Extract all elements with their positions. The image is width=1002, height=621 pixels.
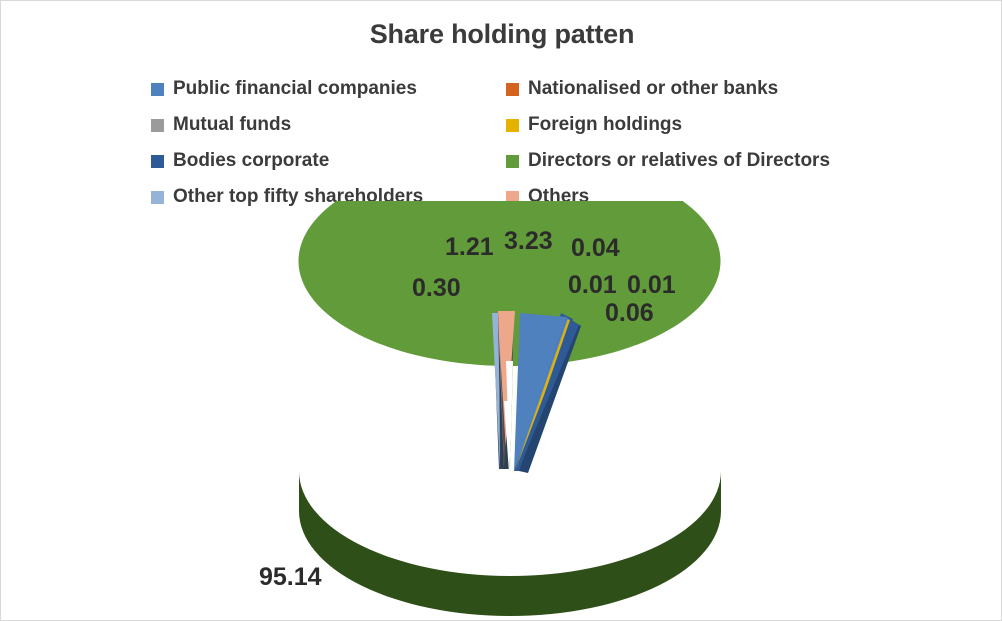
legend-item-bodies-corporate[interactable]: Bodies corporate <box>151 143 506 179</box>
pie-plot-area: 0.30 1.21 3.23 0.04 0.01 0.01 0.06 95.14 <box>1 201 1002 621</box>
legend-item-label: Bodies corporate <box>173 150 329 172</box>
data-label-others: 1.21 <box>445 233 494 262</box>
legend-swatch-icon <box>506 155 519 168</box>
data-label-public-financial-companies: 0.04 <box>571 234 620 263</box>
legend-item-label: Mutual funds <box>173 114 291 136</box>
data-label-foreign-holdings: 0.06 <box>605 299 654 328</box>
legend-item-label: Nationalised or other banks <box>528 78 778 100</box>
legend-swatch-icon <box>151 119 164 132</box>
legend-item-mutual-funds[interactable]: Mutual funds <box>151 107 506 143</box>
legend-item-label: Public financial companies <box>173 78 417 100</box>
data-label-mutual-funds: 0.01 <box>627 271 676 300</box>
legend-swatch-icon <box>151 83 164 96</box>
legend-item-directors-or-relatives-of-directors[interactable]: Directors or relatives of Directors <box>506 143 881 179</box>
pie-graphic <box>1 201 1002 621</box>
data-label-nationalised-or-other-banks: 0.01 <box>568 271 617 300</box>
pie-slices <box>299 201 722 616</box>
slice-depth-directors <box>299 471 721 616</box>
legend-swatch-icon <box>151 155 164 168</box>
legend-item-nationalised-or-other-banks[interactable]: Nationalised or other banks <box>506 71 881 107</box>
chart-title: Share holding patten <box>1 19 1002 50</box>
legend-item-foreign-holdings[interactable]: Foreign holdings <box>506 107 881 143</box>
data-label-other-top-fifty-shareholders: 0.30 <box>412 274 461 303</box>
legend-swatch-icon <box>506 83 519 96</box>
legend-swatch-icon <box>506 119 519 132</box>
legend-item-label: Foreign holdings <box>528 114 682 136</box>
chart-legend: Public financial companies Nationalised … <box>151 71 881 215</box>
pie-chart-container: Share holding patten Public financial co… <box>0 0 1002 621</box>
legend-item-label: Directors or relatives of Directors <box>528 150 830 172</box>
slice-top-bodies-corporate <box>514 313 567 471</box>
data-label-directors-or-relatives-of-directors: 95.14 <box>259 563 322 592</box>
data-label-bodies-corporate: 3.23 <box>504 227 553 256</box>
legend-item-public-financial-companies[interactable]: Public financial companies <box>151 71 506 107</box>
